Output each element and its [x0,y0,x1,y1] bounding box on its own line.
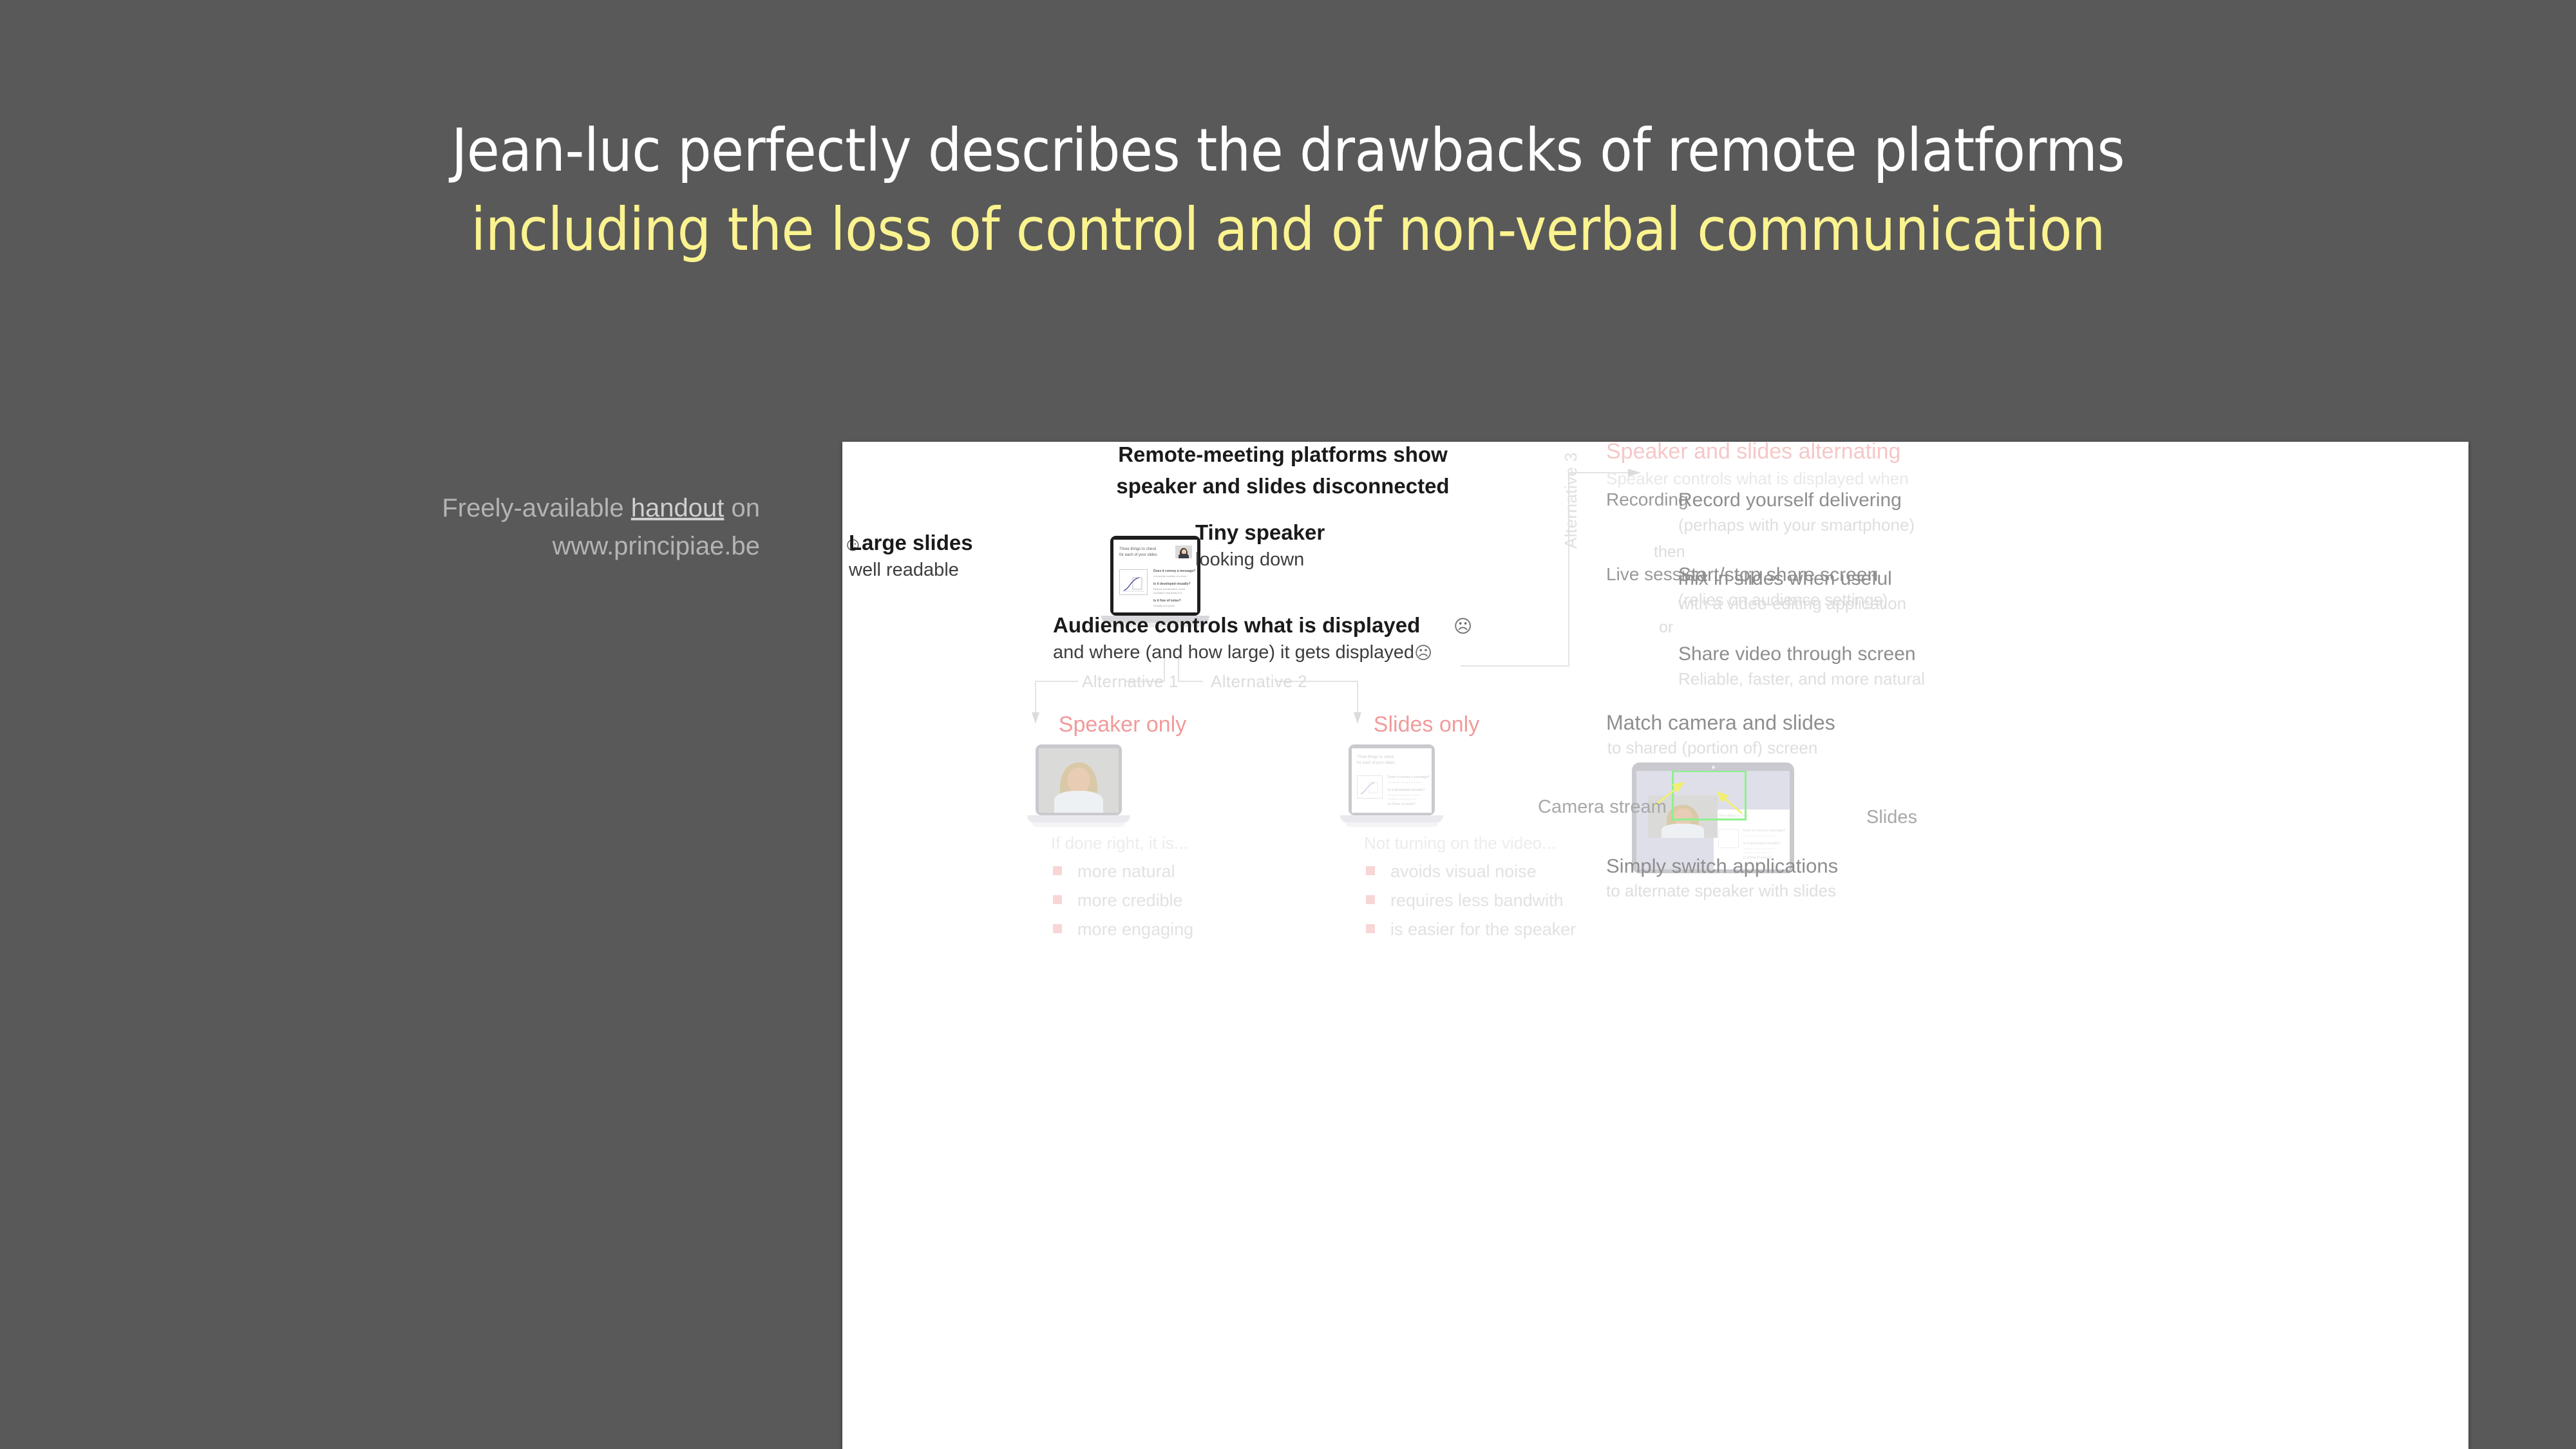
recording-note: (perhaps with your smartphone) [1678,515,1915,535]
switch-applications-subtitle: to alternate speaker with slides [1606,881,1819,901]
laptop-lid [1036,744,1122,815]
list-item: avoids visual noise [1366,857,1576,886]
camera-stream-label: Camera stream [1538,797,1667,818]
speaker-only-bullets: more natural more credible more engaging [1053,857,1193,943]
live-session-connector: or [1659,618,1673,637]
mini-point-body-1: A concrete reaction of a level [1388,781,1423,784]
large-slides-title: Large slides [849,531,1042,555]
slides-only-bullets: avoids visual noise requires less bandwi… [1366,857,1576,943]
speaker-only-title: Speaker only [1026,712,1219,737]
mini-point-body-3: Simplify and prune [1153,604,1189,608]
tiny-speaker-title: Tiny speaker [1195,520,1388,545]
title-line-secondary: including the loss of control and of non… [0,195,2576,265]
mini-point-body-2: Reduce mental effort, avoid unrelated co… [1153,587,1189,596]
slides-label: Slides [1866,807,1917,828]
laptop-lid: Three things to check for each of your s… [1349,744,1435,815]
alternative-1-label: Alternative 1 [1082,672,1179,692]
large-slides-subtitle: well readable [849,560,1042,581]
person-figure [1039,748,1119,813]
mini-slide-title: Three things to check for each of your s… [1357,755,1395,766]
large-slides-callout: Large slides well readable [849,531,1042,581]
mini-point-head-3: Is it free of noise? [1388,802,1416,806]
laptop-lid: Three things to check for each of your s… [1110,536,1200,616]
laptop-base [1027,815,1130,822]
laptop-base [1340,815,1443,822]
laptop-screen: Three things to check for each of your s… [1352,748,1432,813]
alternative-2-label: Alternative 2 [1211,672,1307,692]
laptop-foot [1032,822,1125,827]
diagram-header-line-1: Remote-meeting platforms show [1103,442,1463,471]
list-item: more natural [1053,857,1193,886]
mini-speaker-thumbnail [1175,545,1192,558]
switch-applications-title: Simply switch applications [1606,855,1819,878]
credit-website: www.principiae.be [335,527,760,565]
audience-subtitle: and where (and how large) it gets displa… [1053,642,1452,663]
live-session-value-2: Share video through screen [1678,643,1916,665]
diagram-header-line-2: speaker and slides disconnected [1103,471,1463,502]
webcam-dot-icon [1712,766,1715,769]
slides-only-title: Slides only [1330,712,1523,737]
mini-chart [1119,569,1148,595]
laptop-slides-only: Three things to check for each of your s… [1349,744,1435,827]
frowny-face-icon-2: ☹ [1414,643,1432,663]
laptop-speaker-only [1036,744,1122,827]
diagram-header: Remote-meeting platforms show speaker an… [1103,442,1463,502]
slides-only-lead: Not turning on the video... [1364,833,1556,853]
recording-value: Record yourself delivering [1678,489,1902,511]
audience-controls-callout: Audience controls what is displayed and … [1053,613,1452,663]
tiny-speaker-callout: Tiny speaker looking down [1195,520,1388,571]
live-session-note-2: Reliable, faster, and more natural [1678,669,1925,689]
match-camera-title: Match camera and slides [1606,711,1819,735]
mini-point-head-1: Does it convey a message? [1388,775,1430,779]
recording-connector: then [1654,543,1685,562]
mini-point-head-1: Does it convey a message? [1153,569,1195,573]
mini-point-head-3: Is it free of noise? [1153,599,1181,603]
laptop-screen [1039,748,1119,813]
slide-title-block: Jean-luc perfectly describes the drawbac… [0,116,2576,265]
list-item: more engaging [1053,915,1193,944]
alternating-panel-subtitle: Speaker controls what is displayed when [1606,469,1909,489]
audience-title: Audience controls what is displayed [1053,613,1452,638]
credit-line-1: Freely-available handout on [335,489,760,527]
mini-chart [1357,775,1383,799]
list-item: is easier for the speaker [1366,915,1576,944]
frowny-face-icon: ☹ [1454,616,1472,637]
live-session-note: (relies on audience settings) [1678,590,1888,610]
mini-point-head-2: Is it developed visually? [1388,788,1425,792]
title-line-primary: Jean-luc perfectly describes the drawbac… [0,116,2576,186]
person-figure [1175,545,1192,558]
mini-point-body-2: Reduce mental effort, avoid unrelated co… [1388,793,1423,802]
tiny-speaker-subtitle: looking down [1195,549,1388,571]
diagram-canvas: Remote-meeting platforms show speaker an… [842,442,2468,1449]
laptop-screen: Three things to check for each of your s… [1113,540,1197,612]
recording-key: Recording [1606,489,1689,510]
laptop-foot [1345,822,1438,827]
match-camera-subtitle: to shared (portion of) screen [1606,738,1819,758]
credit-prefix: Freely-available [442,494,630,522]
list-item: requires less bandwith [1366,886,1576,915]
mini-point-head-2: Is it developed visually? [1153,582,1191,586]
alternating-panel-title: Speaker and slides alternating [1606,442,1900,464]
mini-slide-title: Three things to check for each of your s… [1119,547,1157,558]
speaker-only-lead: If done right, it is... [1051,833,1188,853]
credit-suffix: on [724,494,760,522]
list-item: more credible [1053,886,1193,915]
credit-block: Freely-available handout on www.principi… [335,489,760,565]
mini-point-body-1: A concrete reaction of a level [1153,574,1189,578]
connector-lines [842,442,2468,1449]
alternative-3-label: Alternative 3 [1561,452,1581,549]
handout-link[interactable]: handout [631,494,724,522]
live-session-value: Start/stop share screen [1678,564,1878,586]
